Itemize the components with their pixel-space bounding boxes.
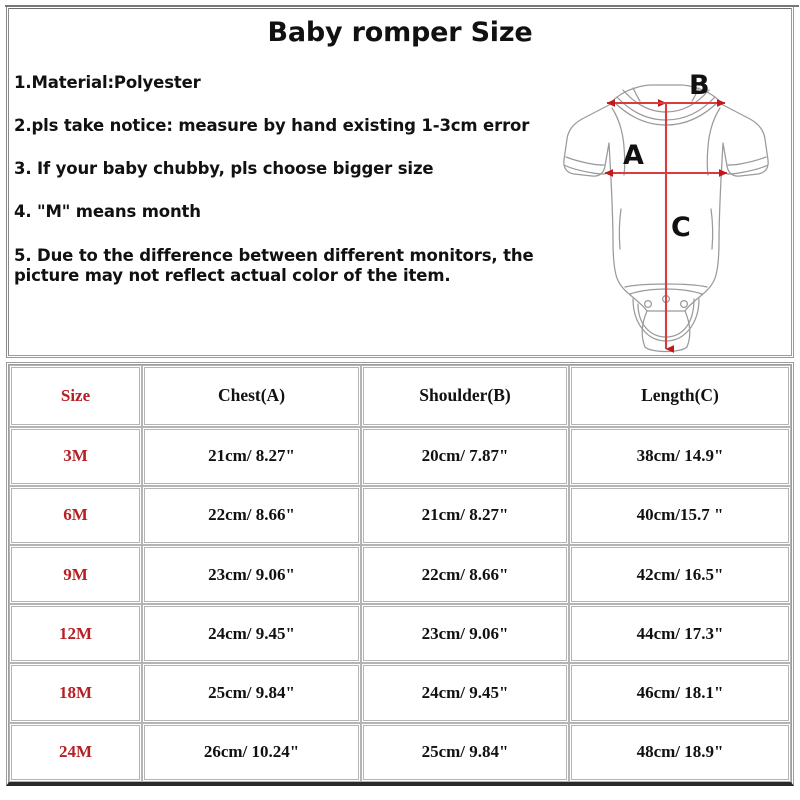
header-cell-length: Length(C): [569, 365, 791, 427]
romper-diagram: B A C: [537, 61, 795, 357]
cell-size: 18M: [9, 663, 142, 722]
notes-list: 1.Material:Polyester 2.pls take notice: …: [14, 73, 534, 286]
cell-chest: 26cm/ 10.24": [142, 723, 361, 782]
cell-chest: 22cm/ 8.66": [142, 486, 361, 545]
note-item: 4. "M" means month: [14, 202, 534, 222]
table-row: 6M 22cm/ 8.66" 21cm/ 8.27" 40cm/15.7 ": [9, 486, 791, 545]
cell-shoulder: 20cm/ 7.87": [361, 427, 569, 486]
cell-length: 48cm/ 18.9": [569, 723, 791, 782]
page-title: Baby romper Size: [9, 17, 791, 48]
cell-length: 40cm/15.7 ": [569, 486, 791, 545]
shoulder-label: B: [689, 70, 710, 101]
cell-length: 42cm/ 16.5": [569, 545, 791, 604]
cell-size: 9M: [9, 545, 142, 604]
header-cell-chest: Chest(A): [142, 365, 361, 427]
cell-chest: 23cm/ 9.06": [142, 545, 361, 604]
note-item: 2.pls take notice: measure by hand exist…: [14, 116, 534, 136]
note-item: 3. If your baby chubby, pls choose bigge…: [14, 159, 534, 179]
header-cell-size: Size: [9, 365, 142, 427]
cell-size: 3M: [9, 427, 142, 486]
note-item: 1.Material:Polyester: [14, 73, 534, 93]
cell-shoulder: 25cm/ 9.84": [361, 723, 569, 782]
cell-length: 44cm/ 17.3": [569, 604, 791, 663]
table-row: 9M 23cm/ 9.06" 22cm/ 8.66" 42cm/ 16.5": [9, 545, 791, 604]
length-label: C: [671, 212, 691, 243]
cell-chest: 24cm/ 9.45": [142, 604, 361, 663]
table-row: 3M 21cm/ 8.27" 20cm/ 7.87" 38cm/ 14.9": [9, 427, 791, 486]
cell-size: 6M: [9, 486, 142, 545]
cell-shoulder: 22cm/ 8.66": [361, 545, 569, 604]
size-table-container: Size Chest(A) Shoulder(B) Length(C) 3M 2…: [6, 362, 794, 786]
cell-chest: 25cm/ 9.84": [142, 663, 361, 722]
note-item: 5. Due to the difference between differe…: [14, 246, 534, 286]
size-chart-page: Baby romper Size 1.Material:Polyester 2.…: [0, 0, 800, 800]
table-row: 18M 25cm/ 9.84" 24cm/ 9.45" 46cm/ 18.1": [9, 663, 791, 722]
cell-length: 38cm/ 14.9": [569, 427, 791, 486]
table-row: 12M 24cm/ 9.45" 23cm/ 9.06" 44cm/ 17.3": [9, 604, 791, 663]
cell-chest: 21cm/ 8.27": [142, 427, 361, 486]
table-row: 24M 26cm/ 10.24" 25cm/ 9.84" 48cm/ 18.9": [9, 723, 791, 782]
table-header-row: Size Chest(A) Shoulder(B) Length(C): [9, 365, 791, 427]
info-panel: Baby romper Size 1.Material:Polyester 2.…: [6, 6, 794, 358]
header-cell-shoulder: Shoulder(B): [361, 365, 569, 427]
cell-shoulder: 21cm/ 8.27": [361, 486, 569, 545]
cell-shoulder: 24cm/ 9.45": [361, 663, 569, 722]
cell-length: 46cm/ 18.1": [569, 663, 791, 722]
cell-size: 12M: [9, 604, 142, 663]
size-table: Size Chest(A) Shoulder(B) Length(C) 3M 2…: [6, 362, 794, 786]
cell-shoulder: 23cm/ 9.06": [361, 604, 569, 663]
cell-size: 24M: [9, 723, 142, 782]
chest-label: A: [623, 140, 644, 171]
